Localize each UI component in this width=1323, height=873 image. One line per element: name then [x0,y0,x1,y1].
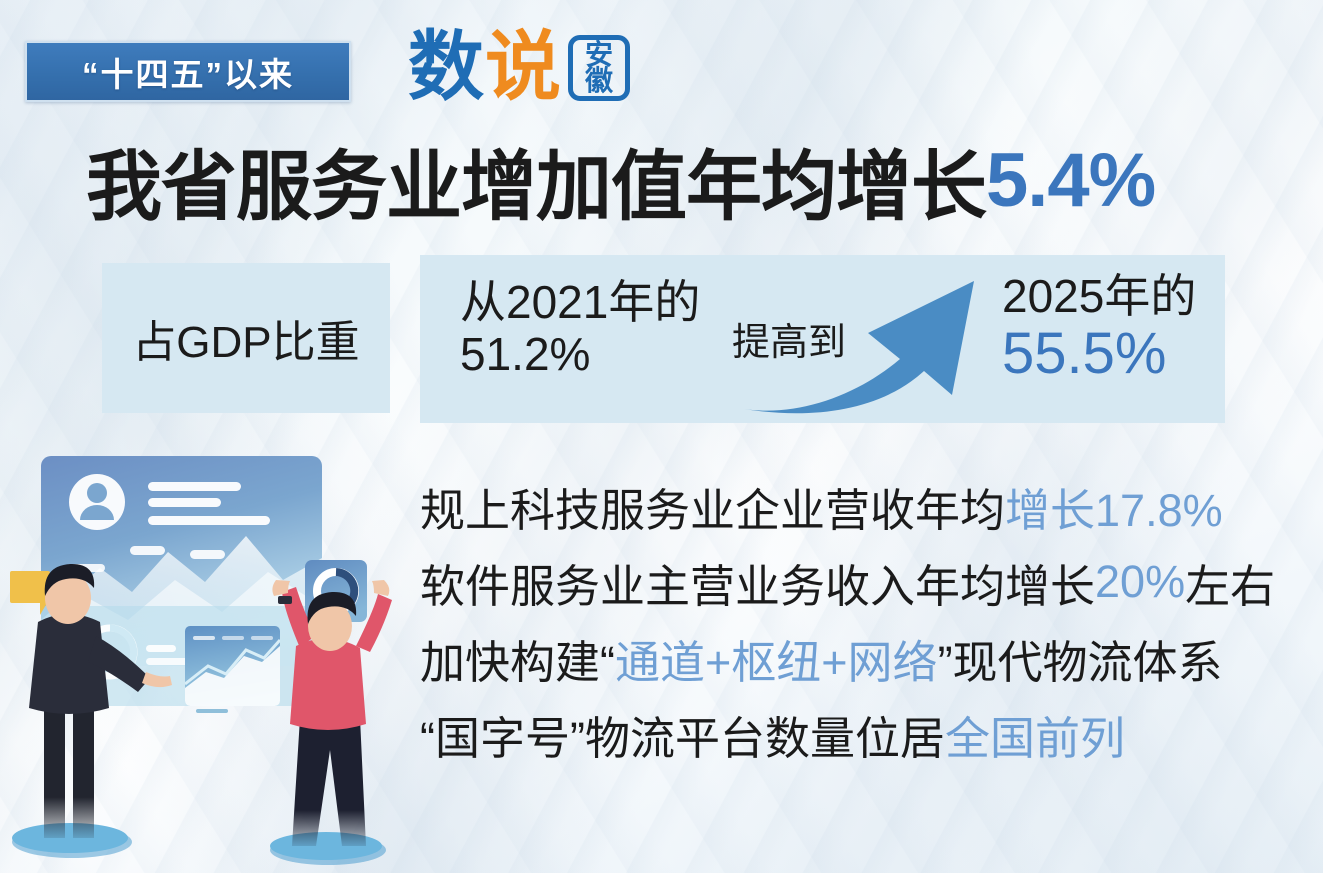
body-line-4-seg-2: 全国前列 [945,702,1125,767]
body-line-4: “国字号”物流平台数量位居 全国前列 [420,696,1300,772]
body-line-1-seg-2: 增长17.8% [1005,474,1223,539]
to-value: 55.5% [1002,322,1196,386]
logo-char-shuo: 说 [485,32,558,104]
gdp-share-label: 占GDP比重 [132,306,359,370]
logo-region-chip: 安 徽 [568,35,630,101]
page-title: 我省服务业增加值年均增长 5.4% [86,134,1286,226]
body-line-3: 加快构建“ 通道+枢纽+网络 ”现代物流体系 [420,620,1300,696]
body-line-2: 软件服务业主营业务收入年均增长 20% 左右 [420,544,1300,620]
stat-band: 占GDP比重 从2021年的 51.2% 提高到 2025年的 55.5% [0,255,1323,435]
from-year-label: 从2021年的 [460,277,700,329]
body-line-2-seg-2: 20% [1095,556,1185,608]
from-value: 51.2% [460,329,700,381]
logo-chip-line2: 徽 [585,68,613,94]
body-line-3-seg-1: 加快构建“ [420,626,615,691]
line-chart-card [185,626,280,713]
era-badge-label: “十四五”以来 [82,48,294,96]
gdp-share-box: 占GDP比重 [102,263,390,413]
from-value-block: 从2021年的 51.2% [460,277,700,380]
trend-box: 从2021年的 51.2% 提高到 2025年的 55.5% [420,255,1225,423]
body-line-1: 规上科技服务业企业营收年均 增长17.8% [420,468,1300,544]
body-line-3-seg-3: ”现代物流体系 [938,626,1223,691]
body-line-2-seg-3: 左右 [1185,550,1275,615]
to-year-label: 2025年的 [1002,271,1196,322]
body-line-3-seg-2: 通道+枢纽+网络 [615,626,938,691]
body-text-block: 规上科技服务业企业营收年均 增长17.8% 软件服务业主营业务收入年均增长 20… [420,468,1300,772]
header: “十四五”以来 数 说 安 徽 [0,0,1323,128]
body-line-2-seg-1: 软件服务业主营业务收入年均增长 [420,550,1095,615]
body-line-1-seg-1: 规上科技服务业企业营收年均 [420,474,1005,539]
growth-arrow-icon [738,267,998,417]
era-badge: “十四五”以来 [25,41,351,102]
infographic-poster: “十四五”以来 数 说 安 徽 我省服务业增加值年均增长 5.4% 占GDP比重… [0,0,1323,873]
to-value-block: 2025年的 55.5% [1002,271,1196,385]
brand-logo: 数 说 安 徽 [408,24,630,112]
logo-char-shu: 数 [408,32,481,104]
title-text: 我省服务业增加值年均增长 [86,125,986,235]
dashboard-people-illustration [0,440,420,873]
title-accent-value: 5.4% [986,137,1155,224]
body-line-4-seg-1: “国字号”物流平台数量位居 [420,702,945,767]
